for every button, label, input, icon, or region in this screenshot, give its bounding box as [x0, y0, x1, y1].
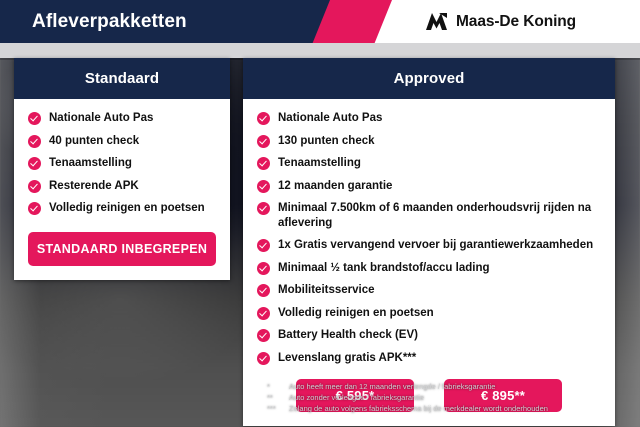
footnote-text: Auto heeft meer dan 12 maanden verlengde… [289, 381, 495, 392]
check-circle-icon [28, 112, 41, 125]
feature-label: 130 punten check [278, 134, 375, 149]
footnote-text: Zolang de auto volgens fabrieksschema bi… [289, 403, 548, 414]
standaard-feature-list: Nationale Auto Pas40 punten checkTenaams… [28, 111, 216, 216]
standaard-card-title: Standaard [14, 58, 230, 99]
feature-label: Minimaal 7.500km of 6 maanden onderhouds… [278, 201, 601, 230]
footnote: ***Zolang de auto volgens fabrieksschema… [267, 403, 627, 414]
feature-label: Battery Health check (EV) [278, 328, 418, 343]
feature-label: 1x Gratis vervangend vervoer bij garanti… [278, 238, 593, 253]
feature-label: 12 maanden garantie [278, 179, 392, 194]
page-header: Afleverpakketten Maas-De Koning [0, 0, 640, 43]
feature-label: Resterende APK [49, 179, 139, 194]
check-circle-icon [257, 307, 270, 320]
feature-label: Minimaal ½ tank brandstof/accu lading [278, 261, 490, 276]
feature-item: Nationale Auto Pas [28, 111, 216, 126]
check-circle-icon [28, 180, 41, 193]
check-circle-icon [257, 284, 270, 297]
feature-item: 12 maanden garantie [257, 179, 601, 194]
footnote-marker: *** [267, 403, 289, 414]
feature-label: Nationale Auto Pas [49, 111, 153, 126]
page-title: Afleverpakketten [32, 0, 187, 43]
footnote: **Auto zonder verlengde / fabrieksgarant… [267, 392, 627, 403]
feature-item: Mobiliteitsservice [257, 283, 601, 298]
feature-item: 40 punten check [28, 134, 216, 149]
feature-label: Tenaamstelling [278, 156, 361, 171]
check-circle-icon [28, 202, 41, 215]
check-circle-icon [257, 329, 270, 342]
check-circle-icon [257, 202, 270, 215]
check-circle-icon [28, 135, 41, 148]
feature-item: Tenaamstelling [257, 156, 601, 171]
feature-item: Tenaamstelling [28, 156, 216, 171]
approved-card-title: Approved [243, 58, 615, 99]
brand-name: Maas-De Koning [456, 13, 576, 31]
feature-item: Levenslang gratis APK*** [257, 351, 601, 366]
feature-item: Nationale Auto Pas [257, 111, 601, 126]
feature-item: Minimaal 7.500km of 6 maanden onderhouds… [257, 201, 601, 230]
feature-label: Tenaamstelling [49, 156, 132, 171]
feature-item: Minimaal ½ tank brandstof/accu lading [257, 261, 601, 276]
check-circle-icon [257, 352, 270, 365]
feature-label: Nationale Auto Pas [278, 111, 382, 126]
footnote-marker: ** [267, 392, 289, 403]
check-circle-icon [257, 157, 270, 170]
slide-root: Afleverpakketten Maas-De Koning Standaar… [0, 0, 640, 427]
feature-label: Levenslang gratis APK*** [278, 351, 416, 366]
check-circle-icon [257, 262, 270, 275]
check-circle-icon [257, 112, 270, 125]
check-circle-icon [28, 157, 41, 170]
feature-label: Volledig reinigen en poetsen [278, 306, 434, 321]
check-circle-icon [257, 239, 270, 252]
footnote-list: *Auto heeft meer dan 12 maanden verlengd… [267, 381, 627, 414]
feature-item: Volledig reinigen en poetsen [257, 306, 601, 321]
footnote-marker: * [267, 381, 289, 392]
feature-item: Battery Health check (EV) [257, 328, 601, 343]
approved-package-card: Approved Nationale Auto Pas130 punten ch… [243, 58, 615, 426]
feature-item: 1x Gratis vervangend vervoer bij garanti… [257, 238, 601, 253]
header-underbar [0, 43, 640, 58]
footnote: *Auto heeft meer dan 12 maanden verlengd… [267, 381, 627, 392]
standaard-inbegrepen-button[interactable]: STANDAARD INBEGREPEN [28, 232, 216, 266]
maas-m-logo-icon [425, 12, 448, 31]
approved-card-body: Nationale Auto Pas130 punten checkTenaam… [243, 99, 615, 426]
brand-logo: Maas-De Koning [425, 0, 576, 43]
check-circle-icon [257, 135, 270, 148]
feature-item: 130 punten check [257, 134, 601, 149]
standaard-card-body: Nationale Auto Pas40 punten checkTenaams… [14, 99, 230, 280]
approved-feature-list: Nationale Auto Pas130 punten checkTenaam… [257, 111, 601, 365]
feature-item: Resterende APK [28, 179, 216, 194]
feature-label: Mobiliteitsservice [278, 283, 375, 298]
feature-label: Volledig reinigen en poetsen [49, 201, 205, 216]
check-circle-icon [257, 180, 270, 193]
footnote-text: Auto zonder verlengde / fabrieksgarantie [289, 392, 424, 403]
feature-item: Volledig reinigen en poetsen [28, 201, 216, 216]
feature-label: 40 punten check [49, 134, 139, 149]
standaard-package-card: Standaard Nationale Auto Pas40 punten ch… [14, 58, 230, 280]
